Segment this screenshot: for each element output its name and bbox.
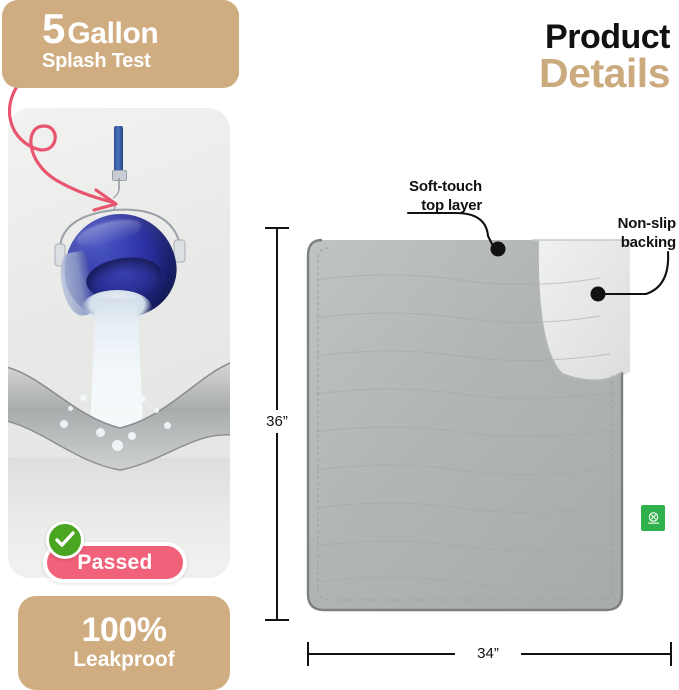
splash-badge-subtitle: Splash Test bbox=[42, 50, 223, 73]
splash-droplet bbox=[60, 420, 68, 428]
leakproof-guarantee-badge: 100% Leakproof bbox=[18, 596, 230, 690]
product-mat-illustration bbox=[300, 222, 630, 622]
leakproof-value: 100% bbox=[82, 613, 167, 647]
splash-test-badge: 5 Gallon Splash Test bbox=[2, 0, 239, 88]
dimension-label-width: 34” bbox=[455, 645, 521, 662]
brand-logo-patch bbox=[641, 505, 665, 531]
leakproof-label: Leakproof bbox=[73, 648, 175, 672]
splash-droplet bbox=[80, 394, 87, 401]
splash-droplet bbox=[112, 440, 123, 451]
page-title-line2: Details bbox=[470, 53, 670, 95]
splash-droplet bbox=[154, 408, 159, 413]
splash-badge-headline: 5 Gallon bbox=[42, 10, 223, 49]
splash-badge-number: 5 bbox=[42, 10, 64, 49]
splash-droplet bbox=[128, 432, 136, 440]
dimension-label-height: 36” bbox=[254, 410, 300, 433]
check-icon bbox=[46, 521, 84, 559]
splash-test-photo-card bbox=[8, 108, 230, 578]
splash-droplet bbox=[164, 422, 171, 429]
callout-nonslip-line1: Non-slip bbox=[588, 215, 676, 234]
splash-droplet bbox=[68, 406, 73, 411]
page-title: Product Details bbox=[470, 20, 670, 94]
callout-label-soft-touch: Soft-touch top layer bbox=[352, 178, 482, 216]
callout-soft-line2: top layer bbox=[352, 197, 482, 216]
callout-soft-line1: Soft-touch bbox=[352, 178, 482, 197]
callout-nonslip-line2: backing bbox=[588, 234, 676, 253]
splash-droplet bbox=[140, 396, 146, 402]
splash-badge-unit: Gallon bbox=[67, 19, 158, 49]
callout-label-non-slip: Non-slip backing bbox=[588, 215, 676, 253]
splash-droplet bbox=[96, 428, 105, 437]
photo-mat-surface bbox=[8, 358, 230, 488]
bucket-strap bbox=[114, 126, 123, 174]
